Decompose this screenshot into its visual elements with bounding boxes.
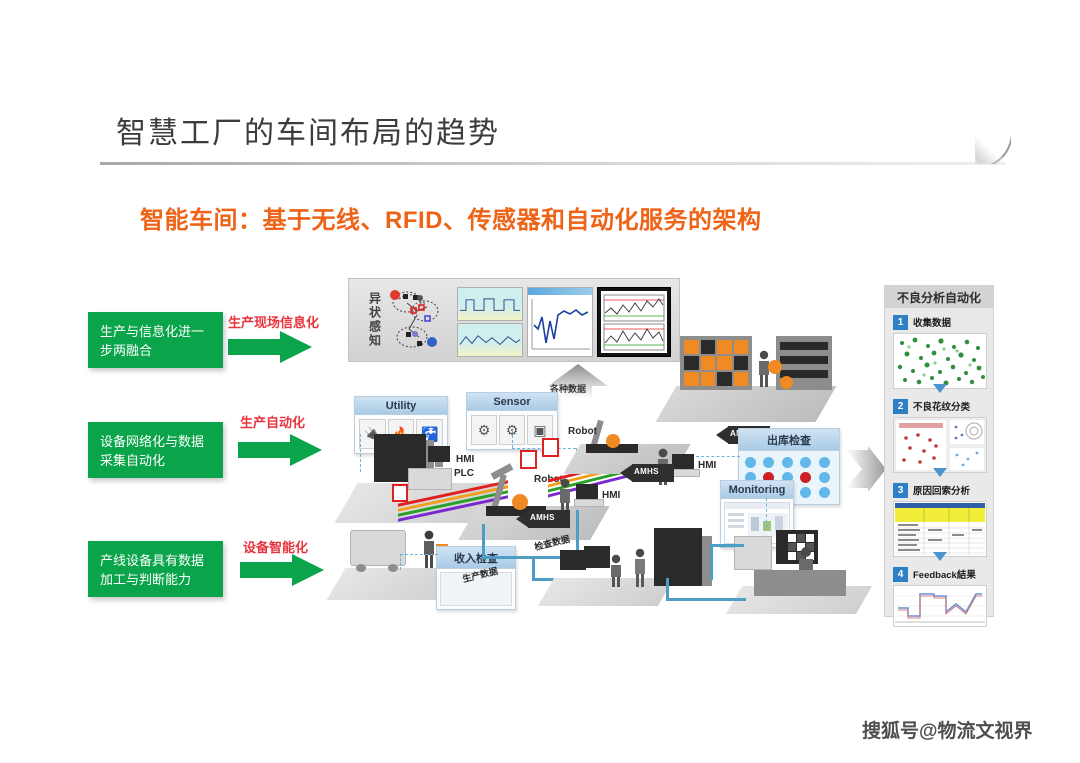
analysis-step-2[interactable]: 2 不良花纹分类: [893, 398, 985, 473]
label-robot-3: Robot: [568, 426, 597, 437]
driver-arrow-3-icon: [240, 554, 324, 586]
card-outgoing-inspection-title: 出库检查: [739, 429, 839, 451]
floor-slab-warehouse: [656, 386, 837, 422]
mini-chart-wave: [457, 323, 523, 357]
dataflow-h3: [666, 598, 746, 601]
driver-arrow-label-2: 生产自动化: [240, 412, 305, 431]
sensor-connector: [512, 430, 513, 448]
to-analysis-arrow-icon: [846, 446, 886, 492]
analysis-step-1-name: 收集数据: [913, 315, 951, 329]
workpiece-3: [606, 434, 620, 448]
analysis-step-3[interactable]: 3 原因回索分析: [893, 482, 985, 557]
hmi-base-3: [670, 469, 700, 477]
storage-rack-1-cells: [684, 340, 748, 386]
rfid-marker-2: [520, 450, 537, 469]
anomaly-sensing-panel: 异状感知: [348, 278, 680, 362]
incoming-inspection-connector-h: [400, 554, 438, 555]
analysis-arrow-3-icon: [933, 552, 947, 561]
analysis-step-2-number: 2: [893, 399, 908, 414]
slide-canvas: 智慧工厂的车间布局的趋势 智能车间：基于无线、RFID、传感器和自动化服务的架构…: [0, 0, 1080, 763]
title-zone: 智慧工厂的车间布局的趋势: [0, 100, 1080, 170]
title-divider: [100, 162, 1005, 165]
card-monitoring-title: Monitoring: [721, 481, 793, 499]
agv-vehicle: [350, 530, 406, 566]
workpiece-2: [512, 494, 528, 510]
amhs-arrow-1: AMHS: [516, 510, 570, 528]
warehouse-item-2: [780, 376, 793, 389]
card-utility-title: Utility: [355, 397, 447, 415]
mini-chart-dual-dark: [597, 287, 671, 357]
analysis-step-4-name: Feedback結果: [913, 567, 976, 581]
hmi-stand-1: [435, 462, 443, 467]
operator-5: [608, 554, 624, 593]
operator-6: [632, 548, 648, 593]
plc-cabinet: [408, 468, 452, 490]
analysis-step-3-name: 原因回索分析: [913, 483, 970, 497]
page-subtitle: 智能车间：基于无线、RFID、传感器和自动化服务的架构: [140, 200, 762, 235]
warehouse-item-1: [768, 360, 782, 374]
analysis-arrow-1-icon: [933, 384, 947, 393]
analysis-step-2-name: 不良花纹分类: [913, 399, 970, 413]
hmi-screen-1: [428, 446, 450, 462]
analysis-step-2-image: [893, 417, 987, 473]
analysis-step-4[interactable]: 4 Feedback結果: [893, 566, 985, 627]
defect-analysis-panel: 不良分析自动化 1 收集数据: [884, 285, 994, 617]
agv-wheel-2: [388, 564, 398, 572]
amhs-label-1: AMHS: [530, 513, 555, 522]
dataflow-v3: [532, 556, 535, 580]
analysis-arrow-2-icon: [933, 468, 947, 477]
amhs-label-2: AMHS: [634, 467, 659, 476]
monitoring-connector: [766, 498, 767, 528]
label-hmi-3: HMI: [698, 460, 716, 471]
operator-7: [796, 546, 816, 579]
page-corner-fold-icon: [975, 112, 1011, 164]
rack2-shelf-2: [780, 356, 828, 364]
analysis-step-1-number: 1: [893, 315, 908, 330]
page-title: 智慧工厂的车间布局的趋势: [116, 108, 500, 152]
dashboard-screen-1: [734, 536, 772, 570]
analysis-step-1[interactable]: 1 收集数据: [893, 314, 985, 389]
analysis-step-1-image: [893, 333, 987, 389]
driver-box-3: 产线设备具有数据加工与判断能力: [88, 541, 223, 597]
label-hmi-1: HMI: [456, 454, 474, 465]
hmi-screen-3: [672, 454, 694, 469]
driver-arrow-2-icon: [238, 434, 322, 466]
hmi-screen-2: [576, 484, 598, 499]
watermark: 搜狐号@物流文视界: [862, 716, 1033, 743]
mini-chart-step: [457, 287, 523, 321]
driver-box-1: 生产与信息化进一步两融合: [88, 312, 223, 368]
analysis-step-4-number: 4: [893, 567, 908, 582]
driver-arrow-label-1: 生产现场信息化: [228, 312, 319, 331]
dataflow-v4: [666, 578, 669, 600]
network-graph-icon: [387, 285, 447, 355]
rack2-shelf-1: [780, 342, 828, 350]
control-monitor-1: [560, 550, 586, 570]
server-rack-1: [654, 528, 702, 586]
dataflow-v5: [710, 544, 713, 580]
hmi-base-2: [574, 499, 604, 507]
analysis-step-4-image: [893, 585, 987, 627]
label-plc: PLC: [454, 468, 474, 479]
agv-wheel-1: [356, 564, 366, 572]
utility-connector: [360, 434, 361, 472]
defect-analysis-title: 不良分析自动化: [885, 286, 993, 308]
analysis-step-3-number: 3: [893, 483, 908, 498]
analysis-step-3-image: [893, 501, 987, 557]
anomaly-sensing-label: 异状感知: [365, 285, 385, 355]
card-sensor-title: Sensor: [467, 393, 557, 411]
rfid-marker-1: [392, 484, 408, 502]
mini-chart-trend: [527, 287, 593, 357]
label-hmi-2: HMI: [602, 490, 620, 501]
driver-box-2: 设备网络化与数据采集自动化: [88, 422, 223, 478]
control-monitor-2: [584, 546, 610, 568]
sensor-device-icon-1: ⚙: [471, 415, 497, 445]
dataflow-v1: [482, 524, 485, 558]
driver-arrow-1-icon: [228, 331, 312, 363]
outgoing-connector: [696, 456, 740, 457]
amhs-arrow-2: AMHS: [620, 464, 674, 482]
rfid-marker-3: [542, 438, 559, 457]
incoming-inspection-connector: [400, 554, 401, 570]
dataflow-h4: [710, 544, 744, 547]
